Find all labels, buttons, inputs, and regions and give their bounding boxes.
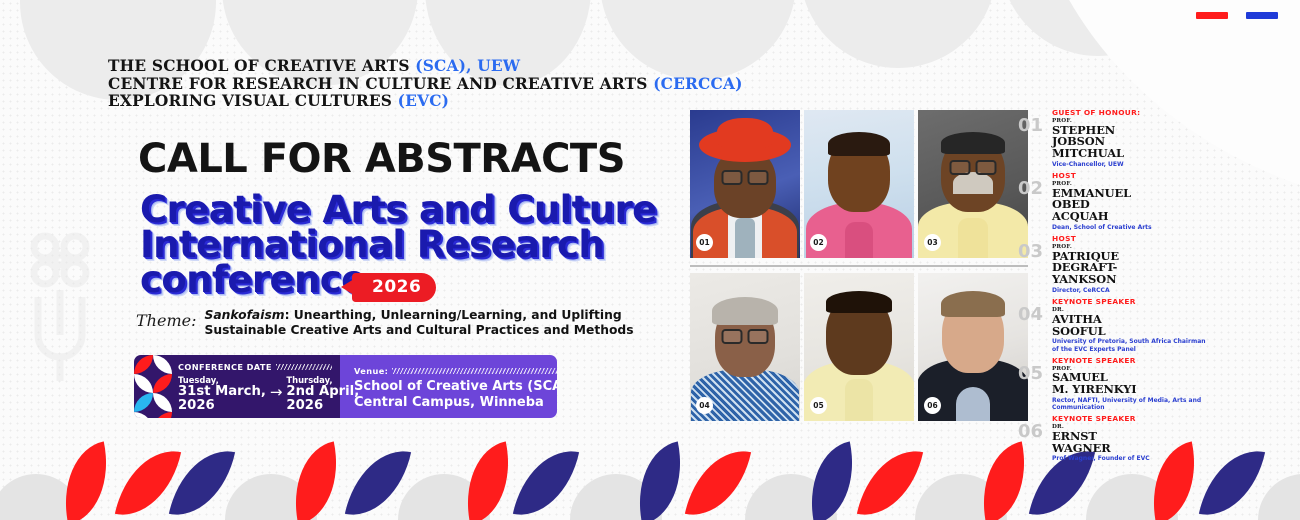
speaker-role-06: KEYNOTE SPEAKER (1052, 414, 1208, 423)
speaker-list: 01 GUEST OF HONOUR: PROF. STEPHEN JOBSON… (1018, 108, 1208, 466)
date-range-arrow-icon: → (270, 375, 283, 399)
theme-text-line-1: Sankofaism: Unearthing, Unlearning/Learn… (204, 308, 633, 323)
photo-row-bottom: 04 05 06 (690, 273, 1028, 421)
speaker-entry-04: 04 KEYNOTE SPEAKER DR. AVITHA SOOFUL Uni… (1018, 297, 1208, 353)
theme-text: Sankofaism: Unearthing, Unlearning/Learn… (204, 308, 633, 337)
theme-label: Theme: (136, 308, 196, 330)
hatch-rule-venue (392, 368, 557, 374)
photo-badge-02: 02 (810, 234, 827, 251)
org-line-1-accent: (SCA), UEW (415, 57, 520, 75)
speaker-entry-06: 06 KEYNOTE SPEAKER DR. ERNST WAGNER Prof… (1018, 414, 1208, 462)
venue-block: Venue: School of Creative Arts (SCA), Ce… (340, 355, 557, 418)
end-date: Thursday, 2nd April, 2026 (286, 375, 359, 412)
photo-grid-divider (690, 265, 1028, 267)
speaker-photo-06: 06 (918, 273, 1028, 421)
venue-line-1: School of Creative Arts (SCA), (354, 379, 557, 395)
speaker-affiliation-02: Dean, School of Creative Arts (1052, 224, 1208, 231)
photo-badge-01: 01 (696, 234, 713, 251)
speaker-affiliation-03: Director, CeRCCA (1052, 287, 1208, 294)
year-badge: 2026 (352, 273, 436, 302)
conference-title-line-2: International Research (140, 227, 657, 262)
speaker-photo-02: 02 (804, 110, 914, 258)
speaker-name-02-line-3: ACQUAH (1052, 211, 1208, 223)
start-date-line-2: 2026 (178, 399, 266, 413)
speaker-entry-05: 05 KEYNOTE SPEAKER PROF. SAMUEL M. YIREN… (1018, 356, 1208, 412)
org-line-2-accent: (CERCCA) (653, 75, 742, 93)
conference-date-block: CONFERENCE DATE Tuesday, 31st March, 202… (172, 355, 340, 418)
speaker-entry-03: 03 HOST PROF. PATRIQUE DEGRAFT- YANKSON … (1018, 234, 1208, 294)
speaker-entry-01: 01 GUEST OF HONOUR: PROF. STEPHEN JOBSON… (1018, 108, 1208, 168)
speaker-role-01: GUEST OF HONOUR: (1052, 108, 1208, 117)
org-header-line-3: EXPLORING VISUAL CULTURES (EVC) (108, 93, 743, 111)
theme-text-line-2: Sustainable Creative Arts and Cultural P… (204, 323, 633, 338)
organisation-header: THE SCHOOL OF CREATIVE ARTS (SCA), UEW C… (108, 58, 743, 111)
photo-row-top: 01 02 03 (690, 110, 1028, 258)
org-line-1-plain: THE SCHOOL OF CREATIVE ARTS (108, 57, 415, 75)
conference-date-label-text: CONFERENCE DATE (178, 362, 272, 372)
speaker-photo-03: 03 (918, 110, 1028, 258)
venue-name: School of Creative Arts (SCA), Central C… (354, 379, 557, 410)
conference-date-label: CONFERENCE DATE (178, 362, 332, 372)
org-line-3-accent: (EVC) (398, 92, 450, 110)
speaker-name-03-line-3: YANKSON (1052, 274, 1208, 286)
photo-badge-04: 04 (696, 397, 713, 414)
start-date-line-1: 31st March, (178, 385, 266, 399)
corner-bar-blue (1246, 12, 1278, 19)
speaker-affiliation-06: Prof Wagner, Founder of EVC (1052, 455, 1208, 462)
corner-bar-red (1196, 12, 1228, 19)
start-date: Tuesday, 31st March, 2026 (178, 375, 266, 412)
conference-title-line-3: conference (140, 262, 366, 297)
speaker-photo-grid: 01 02 03 (690, 110, 1028, 421)
speaker-photo-04: 04 (690, 273, 800, 421)
speaker-role-04: KEYNOTE SPEAKER (1052, 297, 1208, 306)
speaker-number-02: 02 (1018, 171, 1052, 198)
speaker-name-04-line-2: SOOFUL (1052, 326, 1208, 338)
speaker-number-04: 04 (1018, 297, 1052, 324)
date-venue-banner: CONFERENCE DATE Tuesday, 31st March, 202… (134, 355, 557, 418)
speaker-affiliation-04: University of Pretoria, South Africa Cha… (1052, 338, 1208, 352)
speaker-photo-05: 05 (804, 273, 914, 421)
venue-label: Venue: (354, 366, 557, 376)
speaker-name-01-line-3: MITCHUAL (1052, 148, 1208, 160)
corner-bars (1196, 12, 1278, 19)
call-for-abstracts-heading: CALL FOR ABSTRACTS (138, 136, 625, 182)
speaker-number-03: 03 (1018, 234, 1052, 261)
speaker-number-05: 05 (1018, 356, 1052, 383)
hatch-rule-date (276, 364, 332, 370)
org-header-line-1: THE SCHOOL OF CREATIVE ARTS (SCA), UEW (108, 58, 743, 76)
speaker-role-02: HOST (1052, 171, 1208, 180)
venue-line-2: Central Campus, Winneba (354, 395, 557, 411)
date-range: Tuesday, 31st March, 2026 → Thursday, 2n… (178, 375, 332, 412)
photo-badge-03: 03 (924, 234, 941, 251)
speaker-entry-02: 02 HOST PROF. EMMANUEL OBED ACQUAH Dean,… (1018, 171, 1208, 231)
speaker-role-03: HOST (1052, 234, 1208, 243)
end-date-line-1: 2nd April, (286, 385, 359, 399)
speaker-number-01: 01 (1018, 108, 1052, 135)
speaker-affiliation-05: Rector, NAFTI, University of Media, Arts… (1052, 397, 1208, 411)
theme-line-1-rest: : Unearthing, Unlearning/Learning, and U… (285, 308, 622, 322)
speaker-name-05-line-2: M. YIRENKYI (1052, 384, 1208, 396)
conference-title-line-1: Creative Arts and Culture (140, 192, 657, 227)
speaker-photo-01: 01 (690, 110, 800, 258)
banner-pattern (134, 355, 172, 418)
org-line-3-plain: EXPLORING VISUAL CULTURES (108, 92, 398, 110)
speaker-name-06-line-2: WAGNER (1052, 443, 1208, 455)
org-header-line-2: CENTRE FOR RESEARCH IN CULTURE AND CREAT… (108, 76, 743, 94)
speaker-number-06: 06 (1018, 414, 1052, 441)
end-date-line-2: 2026 (286, 399, 359, 413)
theme-keyword: Sankofaism (204, 308, 284, 322)
theme-block: Theme: Sankofaism: Unearthing, Unlearnin… (136, 308, 634, 337)
speaker-role-05: KEYNOTE SPEAKER (1052, 356, 1208, 365)
photo-badge-05: 05 (810, 397, 827, 414)
photo-badge-06: 06 (924, 397, 941, 414)
speaker-affiliation-01: Vice-Chancellor, UEW (1052, 161, 1208, 168)
org-line-2-plain: CENTRE FOR RESEARCH IN CULTURE AND CREAT… (108, 75, 653, 93)
